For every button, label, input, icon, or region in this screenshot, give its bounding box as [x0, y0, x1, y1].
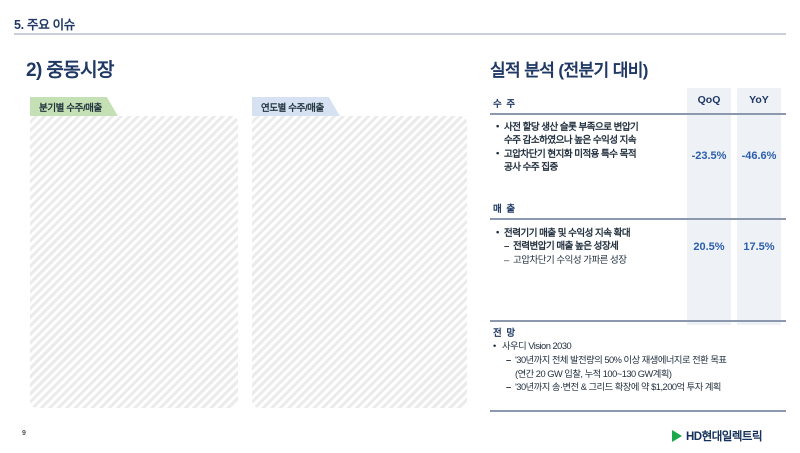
chevron-right-icon [672, 430, 682, 442]
forecast-line: –'30년까지 송·변전 & 그리드 확장에 약 $1,200억 투자 계획 [493, 381, 786, 395]
forecast-bottom-divider [490, 410, 786, 412]
value-orders-qoq: -23.5% [687, 150, 731, 162]
bullet-line: 전력변압기 매출 높은 성장세 [496, 240, 691, 253]
forecast-label: 전 망 [493, 325, 516, 339]
bullet-line: 사전 할당 생산 슬롯 부족으로 변압기 [496, 121, 691, 134]
chart-tab-yearly-label: 연도별 수주/매출 [261, 100, 324, 114]
chart-tab-quarterly: 분기별 수주/매출 [30, 97, 118, 116]
bullet-line: 수주 감소하였으나 높은 수익성 지속 [496, 134, 691, 147]
value-orders-yoy: -46.6% [737, 150, 781, 162]
company-logo: HD현대일렉트릭 [672, 428, 762, 444]
bullet-line: 고압차단기 수익성 가파른 성장 [496, 254, 691, 267]
column-shade-yoy [737, 88, 781, 325]
column-header-qoq: QoQ [687, 94, 731, 106]
value-sales-yoy: 17.5% [737, 241, 781, 253]
bullet-line: 고압차단기 현지화 미적용 특수 목적 [496, 148, 691, 161]
chart-tab-yearly: 연도별 수주/매출 [252, 97, 340, 116]
bullet-line: 전력기기 매출 및 수익성 지속 확대 [496, 227, 691, 240]
row-label-sales: 매 출 [493, 201, 516, 215]
forecast-box: 전 망 •사우디 Vision 2030–'30년까지 전체 발전량의 50% … [490, 320, 786, 412]
chart-quarterly [30, 116, 238, 408]
forecast-line: –'30년까지 전체 발전량의 50% 이상 재생에너지로 전환 목표 [493, 354, 786, 368]
row-bullets-sales: 전력기기 매출 및 수익성 지속 확대전력변압기 매출 높은 성장세고압차단기 … [496, 227, 691, 267]
row-bullets-orders: 사전 할당 생산 슬롯 부족으로 변압기수주 감소하였으나 높은 수익성 지속고… [496, 121, 691, 175]
column-header-yoy: YoY [737, 94, 781, 106]
company-logo-text: HD현대일렉트릭 [686, 428, 762, 444]
row-divider-sales [490, 218, 786, 220]
chart-yearly [252, 116, 467, 408]
forecast-line: •사우디 Vision 2030 [493, 340, 786, 354]
section-title: 2) 중동시장 [26, 55, 114, 82]
chart-yearly-plot [252, 116, 467, 408]
header-divider [14, 33, 786, 35]
page-title: 5. 주요 이슈 [14, 14, 75, 33]
analysis-title: 실적 분석 (전분기 대비) [490, 56, 648, 81]
forecast-top-divider [490, 320, 786, 322]
column-shade-qoq [687, 88, 731, 325]
bullet-line: 공사 수주 집중 [496, 161, 691, 174]
row-label-orders: 수 주 [493, 96, 516, 110]
page-number: 9 [22, 430, 26, 437]
chart-tab-quarterly-label: 분기별 수주/매출 [39, 100, 102, 114]
value-sales-qoq: 20.5% [687, 241, 731, 253]
chart-quarterly-plot [30, 116, 238, 408]
row-divider-orders [490, 113, 786, 115]
forecast-line: (연간 20 GW 입찰, 누적 100~130 GW계획) [493, 368, 786, 382]
forecast-body: •사우디 Vision 2030–'30년까지 전체 발전량의 50% 이상 재… [493, 340, 786, 395]
slide-header: 5. 주요 이슈 [0, 0, 800, 36]
